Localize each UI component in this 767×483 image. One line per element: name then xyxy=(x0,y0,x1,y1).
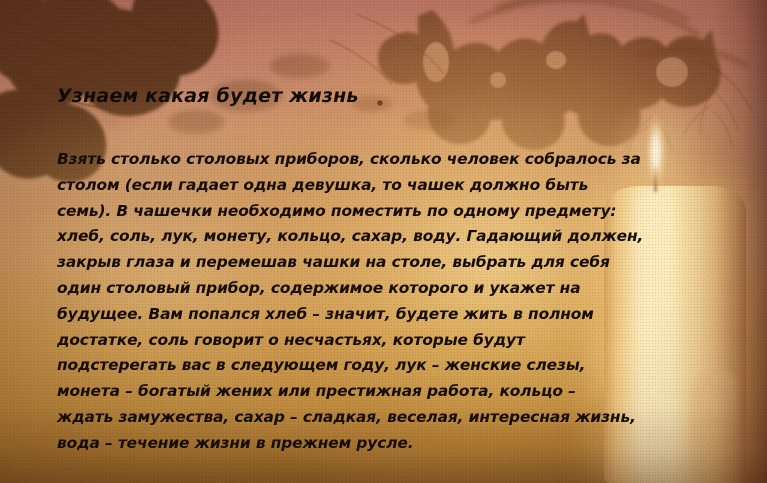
body-line: ждать замужества, сахар – сладкая, весел… xyxy=(57,405,717,431)
body-line: Взять столько столовых приборов, сколько… xyxy=(57,147,717,173)
body-line: закрыв глаза и перемешав чашки на столе,… xyxy=(57,250,717,276)
body-line: столом (если гадает одна девушка, то чаш… xyxy=(57,173,717,199)
body-line: подстерегать вас в следующем году, лук –… xyxy=(57,353,717,379)
body-line: достатке, соль говорит о несчастьях, кот… xyxy=(57,328,717,354)
body-line: семь). В чашечки необходимо поместить по… xyxy=(57,199,717,225)
slide-body-text: Взять столько столовых приборов, сколько… xyxy=(57,147,717,457)
body-line: хлеб, соль, лук, монету, кольцо, сахар, … xyxy=(57,224,717,250)
body-line: один столовый прибор, содержимое которог… xyxy=(57,276,717,302)
body-line: будущее. Вам попался хлеб – значит, буде… xyxy=(57,302,717,328)
body-line: монета – богатый жених или престижная ра… xyxy=(57,379,717,405)
slide-title: Узнаем какая будет жизнь xyxy=(57,85,359,107)
body-line: вода – течение жизни в прежнем русле. xyxy=(57,431,717,457)
presentation-slide: Узнаем какая будет жизнь Взять столько с… xyxy=(0,0,767,483)
slide-text-area: Узнаем какая будет жизнь Взять столько с… xyxy=(0,0,767,483)
